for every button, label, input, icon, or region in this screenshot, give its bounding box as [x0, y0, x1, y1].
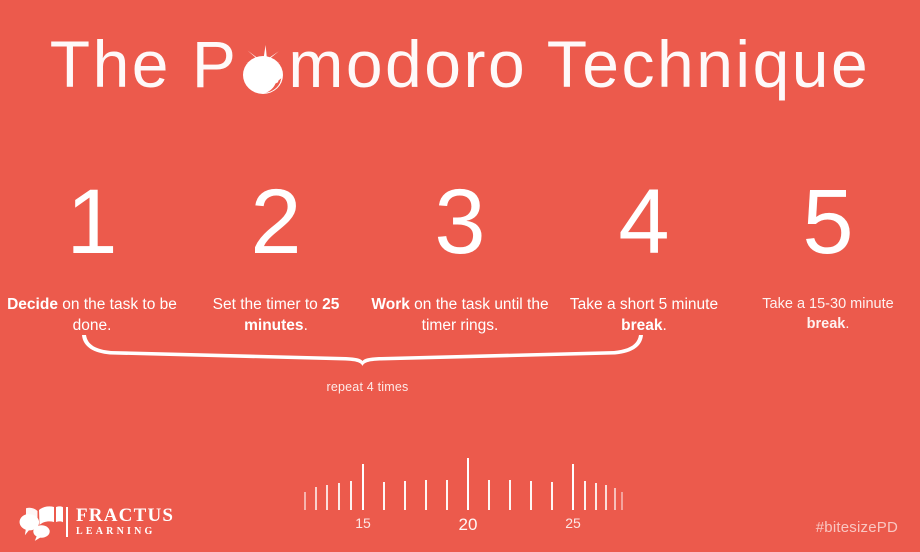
tomato-icon	[237, 36, 289, 98]
speech-bubbles-book-icon	[16, 502, 64, 542]
svg-text:25: 25	[565, 515, 581, 531]
step-3: 3 Work on the task until the timer rings…	[368, 170, 552, 345]
steps-row: 1 Decide on the task to be done. 2 Set t…	[0, 170, 920, 345]
step-4-number: 4	[618, 176, 669, 268]
logo-name-primary: FRACTUS	[76, 506, 174, 526]
step-4-description: Take a short 5 minute break.	[552, 294, 736, 337]
step-1-number: 1	[66, 176, 117, 268]
page-title: The P modoro	[0, 16, 920, 112]
svg-text:20: 20	[459, 515, 478, 532]
repeat-label: repeat 4 times	[0, 380, 735, 394]
fractus-learning-logo[interactable]: FRACTUS LEARNING	[16, 500, 166, 544]
step-5-description: Take a 15-30 minute break.	[743, 294, 913, 334]
title-part-before: The P	[50, 31, 239, 97]
pomodoro-infographic: The P modoro	[0, 0, 920, 552]
repeat-brace	[80, 333, 645, 367]
step-2-description: Set the timer to 25 minutes.	[184, 294, 368, 337]
svg-text:15: 15	[355, 515, 371, 531]
step-5: 5 Take a 15-30 minute break.	[736, 170, 920, 345]
step-2: 2 Set the timer to 25 minutes.	[184, 170, 368, 345]
logo-wordmark: FRACTUS LEARNING	[76, 506, 174, 539]
hashtag-label: #bitesizePD	[816, 519, 898, 536]
step-4: 4 Take a short 5 minute break.	[552, 170, 736, 345]
logo-name-secondary: LEARNING	[76, 526, 174, 538]
step-1: 1 Decide on the task to be done.	[0, 170, 184, 345]
step-2-number: 2	[250, 176, 301, 268]
title-part-after: modoro Technique	[288, 31, 870, 97]
timer-ruler: 15 20 25	[295, 452, 625, 532]
step-1-description: Decide on the task to be done.	[0, 294, 184, 337]
step-5-number: 5	[802, 176, 853, 268]
step-3-number: 3	[434, 176, 485, 268]
logo-divider	[66, 507, 68, 537]
step-3-description: Work on the task until the timer rings.	[368, 294, 552, 337]
